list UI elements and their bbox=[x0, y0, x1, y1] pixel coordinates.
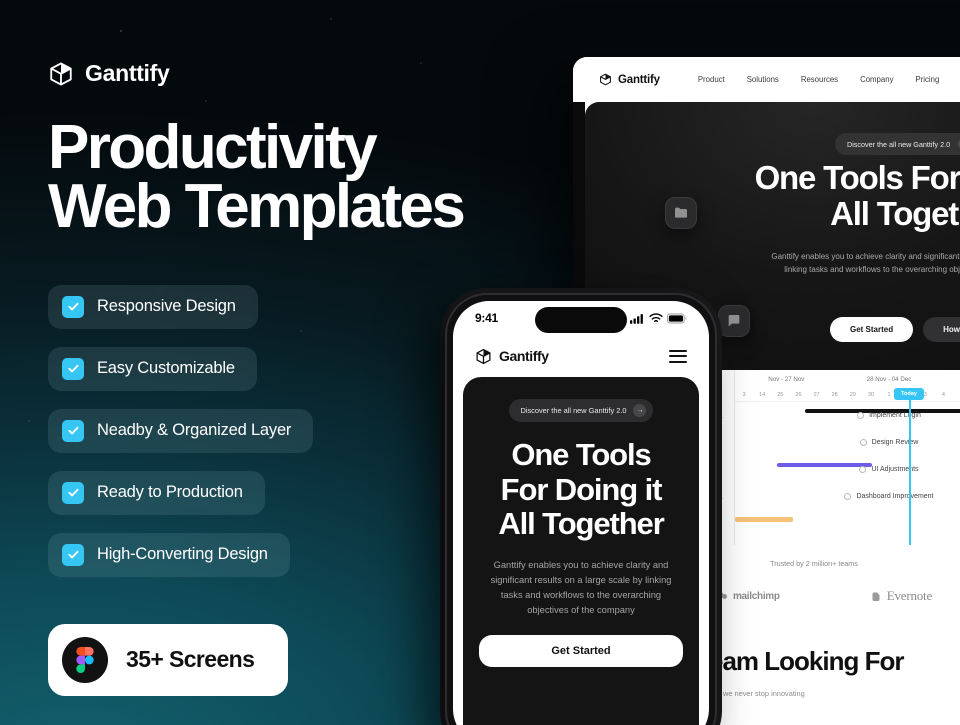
gantt-day: 5 bbox=[953, 392, 960, 398]
check-icon bbox=[62, 358, 84, 380]
dynamic-island bbox=[535, 307, 627, 333]
gantt-timeline: Nov - 27 Nov 28 Nov - 04 Dec 05 Dec - 11… bbox=[735, 370, 960, 545]
status-circle-icon bbox=[859, 466, 866, 473]
status-circle-icon bbox=[857, 412, 864, 419]
phone-status-bar: 9:41 bbox=[453, 301, 709, 335]
phone-announcement-pill[interactable]: Discover the all new Ganttify 2.0 → bbox=[509, 399, 654, 422]
cube-icon bbox=[475, 348, 492, 365]
feature-label: Neadby & Organized Layer bbox=[97, 421, 291, 440]
page-title: Productivity Web Templates bbox=[48, 119, 478, 237]
get-started-button[interactable]: Get Started bbox=[830, 317, 913, 342]
brand-name: Ganttify bbox=[85, 60, 170, 87]
mailchimp-label: mailchimp bbox=[733, 591, 780, 602]
gantt-row[interactable]: Dashboard Improvement bbox=[735, 483, 960, 510]
gantt-week-label: Nov - 27 Nov bbox=[735, 376, 838, 383]
gantt-row[interactable]: UI Adjustments bbox=[735, 456, 960, 483]
desktop-hero-subtitle: Ganttify enables you to achieve clarity … bbox=[703, 250, 960, 276]
gantt-day: 3 bbox=[735, 392, 753, 398]
today-marker-line bbox=[909, 388, 911, 545]
feature-list: Responsive Design Easy Customizable Nead… bbox=[48, 285, 478, 577]
nav-link-company[interactable]: Company bbox=[860, 75, 893, 84]
battery-icon bbox=[667, 313, 687, 324]
gantt-task-name: Dashboard Improvement bbox=[856, 493, 933, 500]
phone-brand[interactable]: Gantiffy bbox=[475, 348, 549, 365]
phone-brand-name: Gantiffy bbox=[499, 348, 549, 364]
gantt-day: 25 bbox=[771, 392, 789, 398]
gantt-task-name: Implement Login bbox=[869, 412, 921, 419]
status-circle-icon bbox=[860, 439, 867, 446]
desktop-navbar: Ganttify Product Solutions Resources Com… bbox=[573, 57, 960, 102]
announcement-label: Discover the all new Ganttify 2.0 bbox=[847, 140, 950, 149]
nav-link-resources[interactable]: Resources bbox=[801, 75, 838, 84]
gantt-day: 4 bbox=[934, 392, 952, 398]
gantt-bar[interactable] bbox=[735, 517, 793, 522]
gantt-day: 30 bbox=[862, 392, 880, 398]
status-icons bbox=[630, 313, 687, 324]
gantt-week-label: 05 Dec - 11 Dec bbox=[940, 376, 960, 383]
gantt-task-name: UI Adjustments bbox=[871, 466, 918, 473]
check-icon bbox=[62, 544, 84, 566]
phone-hero: Discover the all new Ganttify 2.0 → One … bbox=[463, 377, 699, 725]
phone-navbar: Gantiffy bbox=[453, 335, 709, 377]
feature-label: Easy Customizable bbox=[97, 359, 235, 378]
feature-item[interactable]: Easy Customizable bbox=[48, 347, 257, 391]
feature-item[interactable]: Neadby & Organized Layer bbox=[48, 409, 313, 453]
cube-icon bbox=[48, 61, 74, 87]
status-time: 9:41 bbox=[475, 311, 498, 325]
evernote-label: Evernote bbox=[887, 588, 932, 604]
phone-get-started-button[interactable]: Get Started bbox=[479, 635, 683, 667]
phone-hero-subtitle: Ganttify enables you to achieve clarity … bbox=[479, 558, 683, 618]
announcement-pill[interactable]: Discover the all new Ganttify 2.0 → bbox=[835, 133, 960, 155]
feature-label: High-Converting Design bbox=[97, 545, 268, 564]
desktop-brand[interactable]: Ganttify bbox=[599, 73, 660, 86]
brand-lockup: Ganttify bbox=[48, 60, 478, 87]
gantt-row[interactable]: Design Review bbox=[735, 429, 960, 456]
check-icon bbox=[62, 420, 84, 442]
how-it-works-button[interactable]: How it Works bbox=[923, 317, 960, 342]
gantt-row[interactable]: Implement Login bbox=[735, 402, 960, 429]
gantt-week-label: 28 Nov - 04 Dec bbox=[838, 376, 941, 383]
signal-icon bbox=[630, 313, 645, 324]
gantt-rows: Implement Login Design Review UI Adjustm… bbox=[735, 402, 960, 510]
desktop-hero-title: One Tools For Doing it All Together bbox=[703, 160, 960, 233]
check-icon bbox=[62, 482, 84, 504]
feature-item[interactable]: Responsive Design bbox=[48, 285, 258, 329]
phone-screen: 9:41 bbox=[453, 301, 709, 725]
phone-mockup: 9:41 bbox=[445, 293, 717, 725]
figma-icon bbox=[62, 637, 108, 683]
nav-link-product[interactable]: Product bbox=[698, 75, 725, 84]
gantt-day: 14 bbox=[753, 392, 771, 398]
gantt-day: 28 bbox=[826, 392, 844, 398]
chat-icon bbox=[718, 305, 750, 337]
desktop-hero-actions: Get Started How it Works bbox=[830, 317, 960, 342]
folder-icon bbox=[665, 197, 697, 229]
today-marker[interactable]: Today bbox=[894, 388, 924, 400]
gantt-day: 27 bbox=[808, 392, 826, 398]
feature-item[interactable]: High-Converting Design bbox=[48, 533, 290, 577]
status-circle-icon bbox=[844, 493, 851, 500]
gantt-week-header: Nov - 27 Nov 28 Nov - 04 Dec 05 Dec - 11… bbox=[735, 370, 960, 388]
feature-label: Ready to Production bbox=[97, 483, 243, 502]
screens-count-label: 35+ Screens bbox=[126, 646, 254, 673]
hamburger-icon[interactable] bbox=[669, 350, 687, 363]
desktop-brand-name: Ganttify bbox=[618, 74, 660, 86]
poster-canvas: Ganttify Productivity Web Templates Resp… bbox=[0, 0, 960, 725]
left-content-panel: Ganttify Productivity Web Templates Resp… bbox=[48, 60, 478, 696]
gantt-day: 26 bbox=[789, 392, 807, 398]
feature-item[interactable]: Ready to Production bbox=[48, 471, 265, 515]
gantt-task-name: Design Review bbox=[872, 439, 919, 446]
arrow-right-icon: → bbox=[633, 404, 646, 417]
cube-icon bbox=[599, 73, 612, 86]
screens-count-badge[interactable]: 35+ Screens bbox=[48, 624, 288, 696]
gantt-day-header: 3 14 25 26 27 28 29 30 1 2 3 4 5 6 7 8 9 bbox=[735, 388, 960, 402]
check-icon bbox=[62, 296, 84, 318]
phone-hero-title: One Tools For Doing it All Together bbox=[479, 438, 683, 542]
feature-label: Responsive Design bbox=[97, 297, 236, 316]
nav-link-solutions[interactable]: Solutions bbox=[747, 75, 779, 84]
gantt-day: 29 bbox=[844, 392, 862, 398]
nav-link-pricing[interactable]: Pricing bbox=[915, 75, 939, 84]
evernote-logo: Evernote bbox=[870, 588, 932, 604]
phone-announcement-label: Discover the all new Ganttify 2.0 bbox=[521, 406, 627, 415]
desktop-nav-links: Product Solutions Resources Company Pric… bbox=[698, 75, 939, 84]
wifi-icon bbox=[649, 313, 663, 324]
mailchimp-logo: mailchimp bbox=[716, 588, 780, 604]
